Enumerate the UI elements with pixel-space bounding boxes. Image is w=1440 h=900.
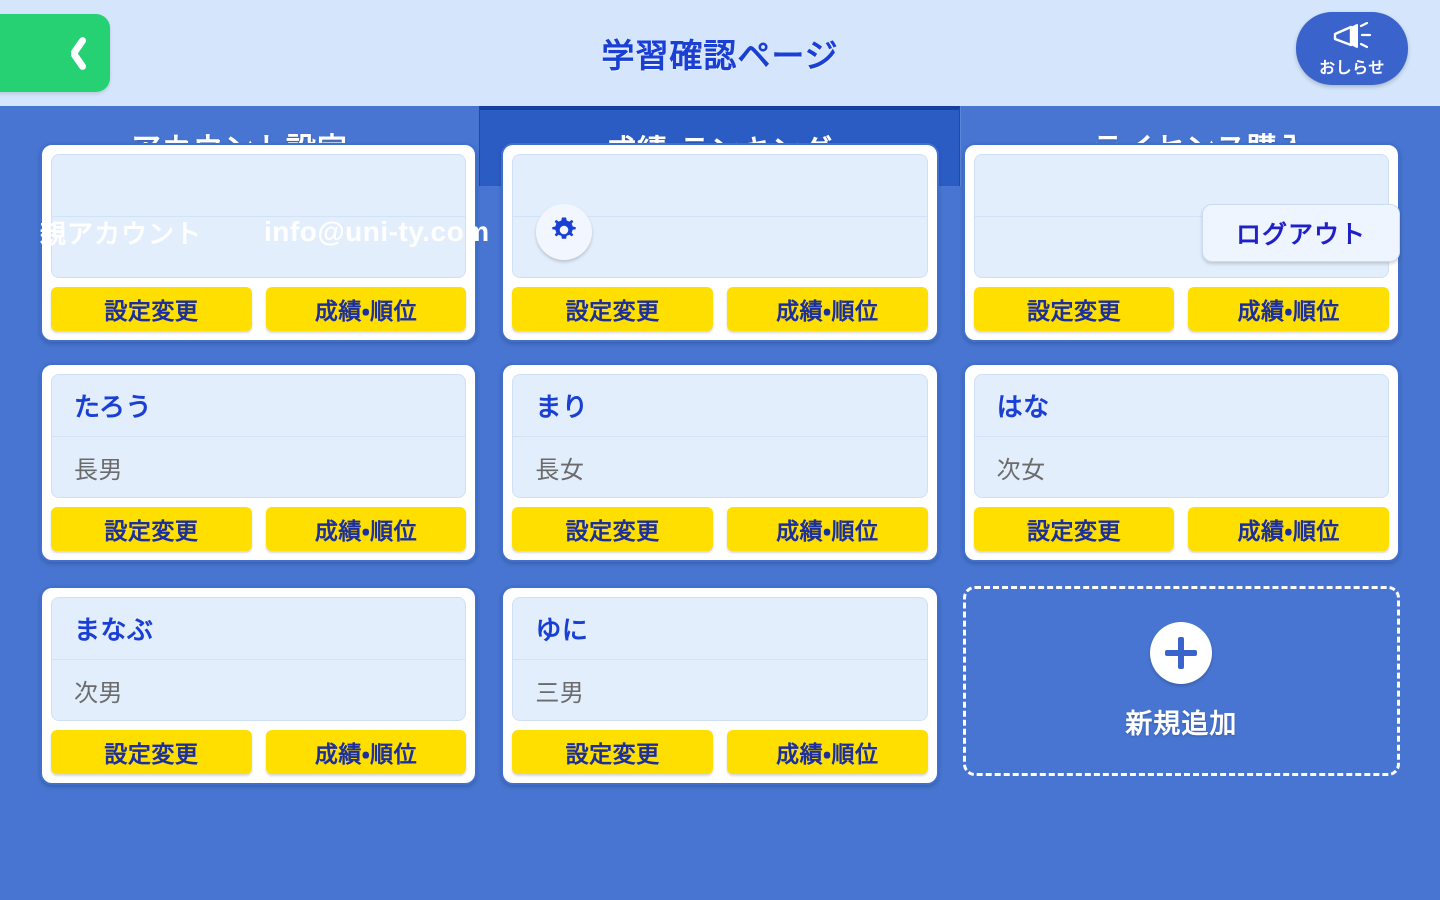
card-info-panel: まなぶ 次男 — [51, 597, 466, 721]
settings-change-button[interactable]: 設定変更 — [512, 287, 713, 331]
settings-change-button[interactable]: 設定変更 — [974, 287, 1175, 331]
gear-icon — [548, 214, 580, 251]
account-settings-gear-button[interactable] — [536, 204, 592, 260]
scores-rank-button[interactable]: 成績・順位 — [727, 730, 928, 774]
megaphone-icon — [1331, 22, 1373, 55]
scores-rank-button[interactable]: 成績・順位 — [727, 507, 928, 551]
card-name: ゆに — [513, 598, 926, 660]
card-role: 次女 — [975, 437, 1388, 497]
table-row: まなぶ 次男 設定変更 成績・順位 — [40, 586, 477, 785]
settings-change-button[interactable]: 設定変更 — [51, 507, 252, 551]
card-actions: 設定変更 成績・順位 — [51, 287, 466, 331]
account-bar: 親アカウント info@uni-ty.com ログアウト — [0, 186, 1440, 278]
card-actions: 設定変更 成績・順位 — [512, 730, 927, 774]
parent-account-email: info@uni-ty.com — [264, 216, 490, 248]
add-new-account-button[interactable]: 新規追加 — [963, 586, 1400, 776]
scores-rank-button[interactable]: 成績・順位 — [1188, 287, 1389, 331]
card-role: 三男 — [513, 660, 926, 720]
card-actions: 設定変更 成績・順位 — [974, 507, 1389, 551]
scores-rank-button[interactable]: 成績・順位 — [266, 507, 467, 551]
parent-account-label: 親アカウント — [40, 214, 202, 251]
back-button[interactable] — [0, 14, 110, 92]
card-info-panel: まり 長女 — [512, 374, 927, 498]
table-row: ゆに 三男 設定変更 成績・順位 — [501, 586, 938, 785]
settings-change-button[interactable]: 設定変更 — [51, 287, 252, 331]
card-name: まなぶ — [52, 598, 465, 660]
app-header: 学習確認ページ おしらせ — [0, 0, 1440, 106]
table-row: たろう 長男 設定変更 成績・順位 — [40, 363, 477, 562]
scores-rank-button[interactable]: 成績・順位 — [1188, 507, 1389, 551]
card-actions: 設定変更 成績・順位 — [512, 287, 927, 331]
plus-icon — [1150, 622, 1212, 684]
table-row: はな 次女 設定変更 成績・順位 — [963, 363, 1400, 562]
card-actions: 設定変更 成績・順位 — [51, 507, 466, 551]
card-role: 長男 — [52, 437, 465, 497]
chevron-left-icon — [62, 34, 84, 72]
settings-change-button[interactable]: 設定変更 — [512, 507, 713, 551]
logout-button[interactable]: ログアウト — [1202, 204, 1400, 262]
card-name: まり — [513, 375, 926, 437]
card-role: 次男 — [52, 660, 465, 720]
card-actions: 設定変更 成績・順位 — [512, 507, 927, 551]
notification-button[interactable]: おしらせ — [1296, 12, 1408, 85]
card-info-panel: はな 次女 — [974, 374, 1389, 498]
child-account-grid: 設定変更 成績・順位 設定変更 成績・順位 設定変更 成績・順位 たろう 長男 — [0, 278, 1440, 809]
scores-rank-button[interactable]: 成績・順位 — [266, 287, 467, 331]
card-role: 長女 — [513, 437, 926, 497]
card-name: たろう — [52, 375, 465, 437]
scores-rank-button[interactable]: 成績・順位 — [266, 730, 467, 774]
settings-change-button[interactable]: 設定変更 — [51, 730, 252, 774]
scores-rank-button[interactable]: 成績・順位 — [727, 287, 928, 331]
card-name: はな — [975, 375, 1388, 437]
settings-change-button[interactable]: 設定変更 — [974, 507, 1175, 551]
notification-label: おしらせ — [1319, 54, 1385, 78]
add-new-label: 新規追加 — [1125, 702, 1237, 741]
card-info-panel: たろう 長男 — [51, 374, 466, 498]
card-actions: 設定変更 成績・順位 — [51, 730, 466, 774]
card-actions: 設定変更 成績・順位 — [974, 287, 1389, 331]
card-info-panel: ゆに 三男 — [512, 597, 927, 721]
page-title: 学習確認ページ — [601, 29, 838, 77]
settings-change-button[interactable]: 設定変更 — [512, 730, 713, 774]
table-row: まり 長女 設定変更 成績・順位 — [501, 363, 938, 562]
